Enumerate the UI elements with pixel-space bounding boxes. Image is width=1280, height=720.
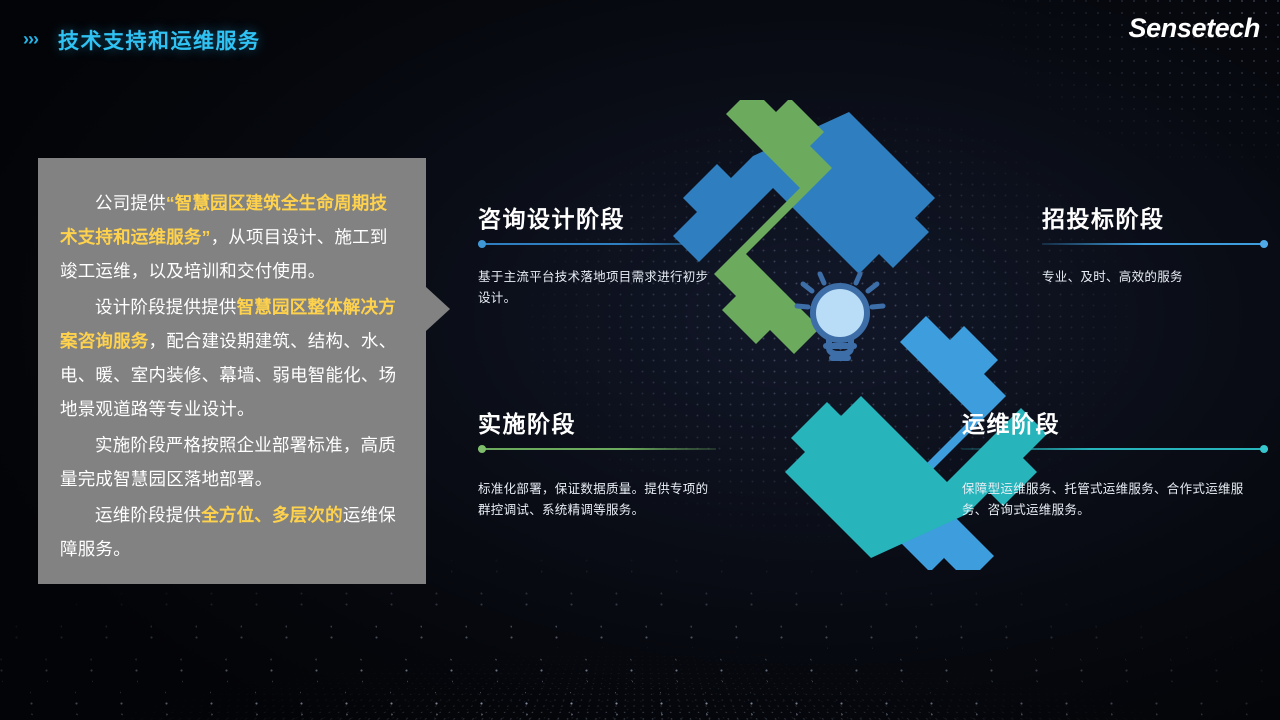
quadrant-rule-tender (1042, 243, 1268, 245)
quadrant-title-operations: 运维阶段 (962, 405, 1268, 439)
panel-paragraph-1: 公司提供“智慧园区建筑全生命周期技术支持和运维服务”，从项目设计、施工到竣工运维… (60, 186, 404, 288)
highlighted-text: 全方位、多层次的 (201, 505, 343, 525)
panel-paragraph-3: 实施阶段严格按照企业部署标准，高质量完成智慧园区落地部署。 (60, 428, 404, 496)
slide-root: ››› 技术支持和运维服务 Sensetech 公司提供“智慧园区建筑全生命周期… (0, 0, 1280, 720)
page-title: 技术支持和运维服务 (58, 25, 261, 55)
quadrant-desc-implementation: 标准化部署，保证数据质量。提供专项的群控调试、系统精调等服务。 (478, 479, 716, 521)
rule-line (478, 448, 716, 450)
quadrant-consulting-design: 咨询设计阶段 基于主流平台技术落地项目需求进行初步设计。 (478, 200, 716, 309)
rule-line (1042, 243, 1268, 245)
quadrant-operations: 运维阶段 保障型运维服务、托管式运维服务、合作式运维服务、咨询式运维服务。 (962, 405, 1268, 521)
panel-paragraph-4: 运维阶段提供全方位、多层次的运维保障服务。 (60, 498, 404, 566)
slide-header: ››› 技术支持和运维服务 Sensetech (0, 0, 1280, 62)
body-text: 设计阶段提供提供 (95, 297, 237, 317)
panel-paragraph-2: 设计阶段提供提供智慧园区整体解决方案咨询服务，配合建设期建筑、结构、水、电、暖、… (60, 290, 404, 426)
quadrant-rule-consulting (478, 243, 716, 245)
panel-pointer-icon (426, 287, 450, 331)
rule-line (478, 243, 716, 245)
rule-line (962, 448, 1268, 450)
body-text: 实施阶段严格按照企业部署标准，高质量完成智慧园区落地部署。 (60, 435, 396, 489)
quadrant-title-consulting: 咨询设计阶段 (478, 200, 716, 234)
rule-dot-icon (1260, 240, 1268, 248)
rule-dot-icon (478, 445, 486, 453)
quadrant-desc-operations: 保障型运维服务、托管式运维服务、合作式运维服务、咨询式运维服务。 (962, 479, 1268, 521)
quadrant-title-implementation: 实施阶段 (478, 405, 716, 439)
chevron-triple-icon: ››› (23, 30, 38, 48)
quadrant-title-tender: 招投标阶段 (1042, 200, 1268, 234)
quadrant-desc-tender: 专业、及时、高效的服务 (1042, 267, 1268, 288)
body-text: 公司提供 (95, 193, 166, 213)
quadrant-desc-consulting: 基于主流平台技术落地项目需求进行初步设计。 (478, 267, 716, 309)
quadrant-tender: 招投标阶段 专业、及时、高效的服务 (1042, 200, 1268, 288)
brand-logo: Sensetech (1129, 13, 1260, 44)
lightbulb-icon (793, 266, 887, 370)
particles-bottom-field (0, 646, 1280, 720)
description-panel: 公司提供“智慧园区建筑全生命周期技术支持和运维服务”，从项目设计、施工到竣工运维… (38, 158, 426, 584)
rule-dot-icon (1260, 445, 1268, 453)
quadrant-rule-implementation (478, 448, 716, 450)
quadrant-rule-operations (962, 448, 1268, 450)
quadrant-implementation: 实施阶段 标准化部署，保证数据质量。提供专项的群控调试、系统精调等服务。 (478, 405, 716, 521)
body-text: 运维阶段提供 (95, 505, 201, 525)
rule-dot-icon (478, 240, 486, 248)
